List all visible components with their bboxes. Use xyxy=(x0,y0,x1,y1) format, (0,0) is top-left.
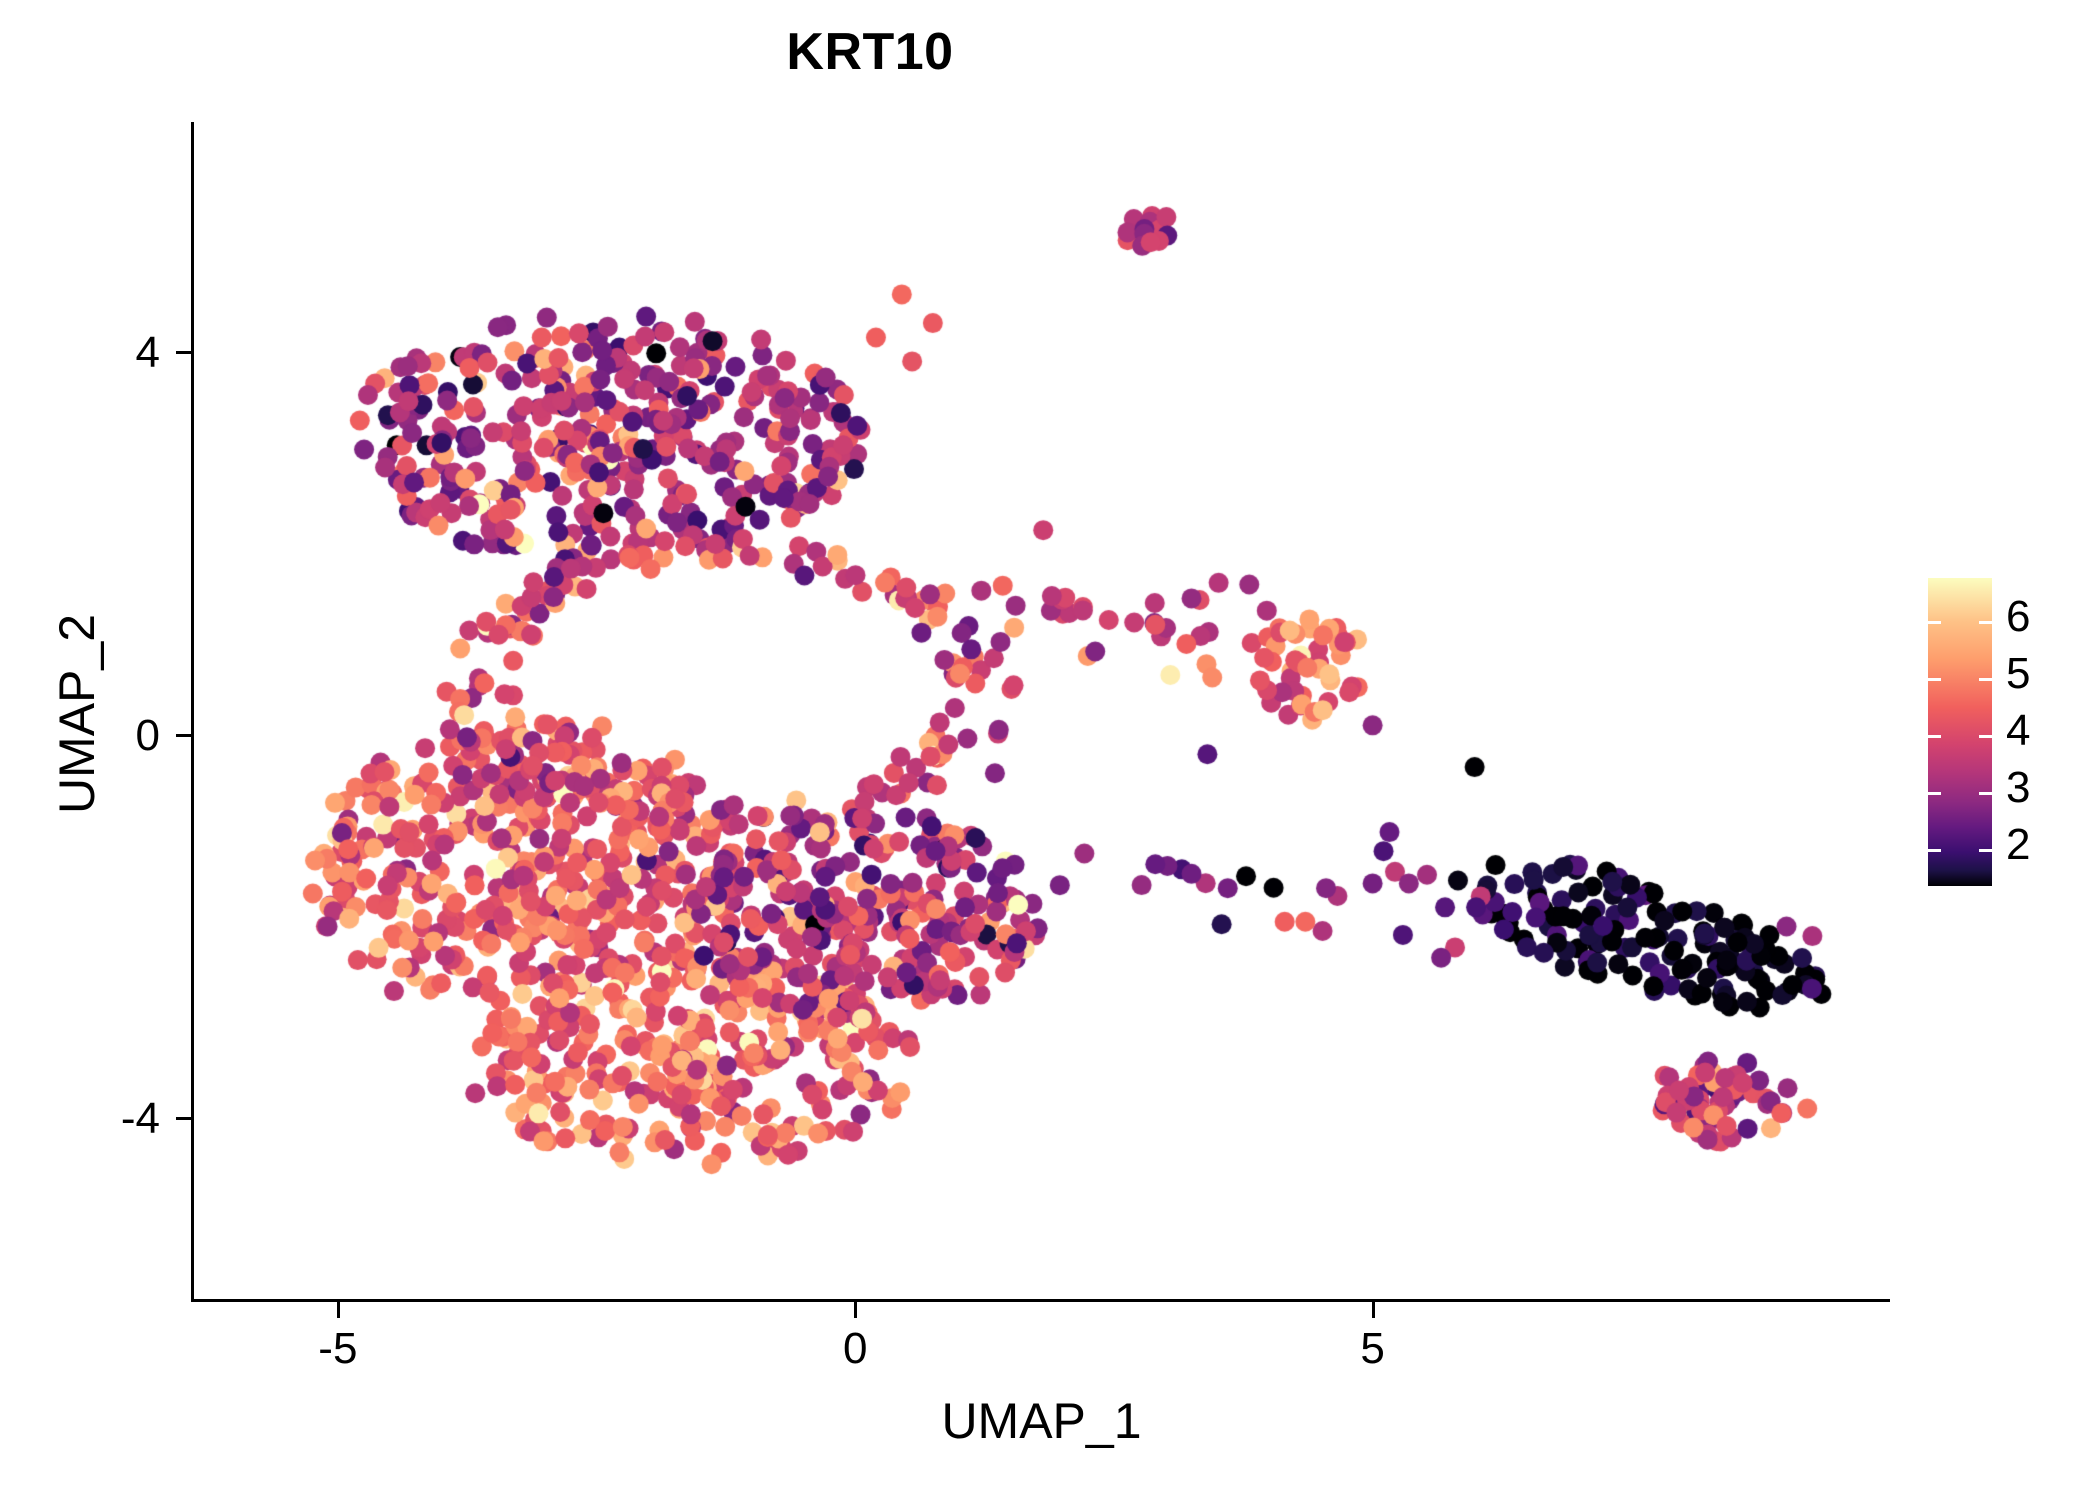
x-tick-mark xyxy=(854,1302,857,1318)
colorbar-legend: 65432 xyxy=(1928,578,1992,886)
colorbar-tick-mark xyxy=(1928,678,1941,681)
colorbar-tick-label: 5 xyxy=(2006,652,2030,696)
x-tick-mark xyxy=(1372,1302,1375,1318)
y-tick-mark xyxy=(176,1117,192,1120)
colorbar-tick-mark xyxy=(1979,735,1992,738)
colorbar-tick-mark xyxy=(1979,678,1992,681)
colorbar-gradient xyxy=(1928,578,1992,886)
y-axis-line xyxy=(191,122,194,1302)
x-tick-label: 0 xyxy=(795,1324,915,1374)
x-axis-label: UMAP_1 xyxy=(193,1392,1890,1450)
colorbar-tick-mark xyxy=(1979,849,1992,852)
colorbar-tick-label: 4 xyxy=(2006,709,2030,753)
colorbar-tick-mark xyxy=(1928,735,1941,738)
x-tick-label: 5 xyxy=(1313,1324,1433,1374)
colorbar-tick-mark xyxy=(1979,792,1992,795)
colorbar-tick-label: 3 xyxy=(2006,766,2030,810)
colorbar-tick-mark xyxy=(1979,621,1992,624)
y-axis-label: UMAP_2 xyxy=(48,364,106,1064)
chart-root: KRT10 -5 0 5 4 0 -4 UMAP_1 UMAP_2 65432 xyxy=(0,0,2100,1500)
scatter-points-layer xyxy=(193,122,1890,1300)
x-tick-mark xyxy=(337,1302,340,1318)
colorbar-tick-label: 6 xyxy=(2006,595,2030,639)
colorbar-tick-label: 2 xyxy=(2006,823,2030,867)
y-tick-mark xyxy=(176,734,192,737)
colorbar-tick-mark xyxy=(1928,621,1941,624)
y-tick-mark xyxy=(176,351,192,354)
y-tick-label: -4 xyxy=(40,1094,160,1144)
colorbar-tick-mark xyxy=(1928,849,1941,852)
page-title: KRT10 xyxy=(0,22,1740,82)
x-axis-line xyxy=(191,1299,1890,1302)
x-tick-label: -5 xyxy=(278,1324,398,1374)
colorbar-tick-mark xyxy=(1928,792,1941,795)
